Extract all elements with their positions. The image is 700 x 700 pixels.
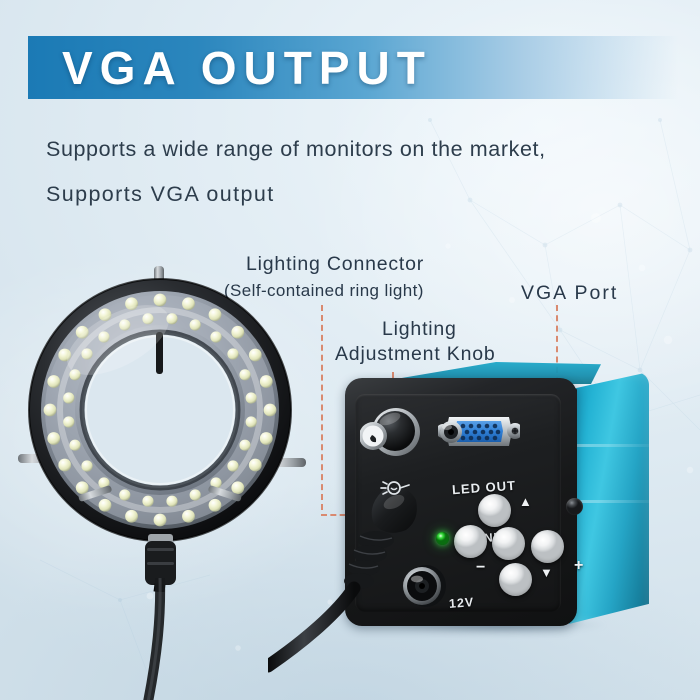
symbol-plus: +: [574, 557, 583, 575]
symbol-up-arrow: ▲: [519, 494, 532, 509]
lighting-bulb-icon: [378, 476, 412, 500]
button-down[interactable]: [499, 563, 532, 596]
symbol-down-arrow: ▼: [540, 565, 553, 580]
adjustment-screw[interactable]: [566, 498, 583, 515]
camera-side-panel: [569, 372, 649, 624]
button-menu[interactable]: [492, 527, 525, 560]
label-12v: 12V: [449, 595, 475, 611]
subtitle-line-2: Supports VGA output: [46, 182, 275, 207]
led-out-port[interactable]: [434, 418, 468, 446]
subtitle-line-1: Supports a wide range of monitors on the…: [46, 137, 546, 162]
annotation-lighting-knob-label-line1: Lighting: [382, 318, 457, 341]
button-up[interactable]: [478, 494, 511, 527]
dc-power-jack[interactable]: [400, 563, 448, 609]
annotation-lighting-knob-label-line2: Adjustment Knob: [335, 343, 496, 366]
button-minus[interactable]: [454, 525, 487, 558]
product-infographic: VGA OUTPUT Supports a wide range of moni…: [0, 0, 700, 700]
button-plus[interactable]: [531, 530, 564, 563]
symbol-minus: −: [476, 559, 485, 577]
power-led-indicator: [436, 532, 449, 545]
page-title: VGA OUTPUT: [62, 44, 432, 92]
annotation-vga-port-label: VGA Port: [521, 282, 618, 305]
lighting-adjustment-knob[interactable]: [360, 404, 430, 466]
ring-light-cable: [120, 578, 240, 700]
